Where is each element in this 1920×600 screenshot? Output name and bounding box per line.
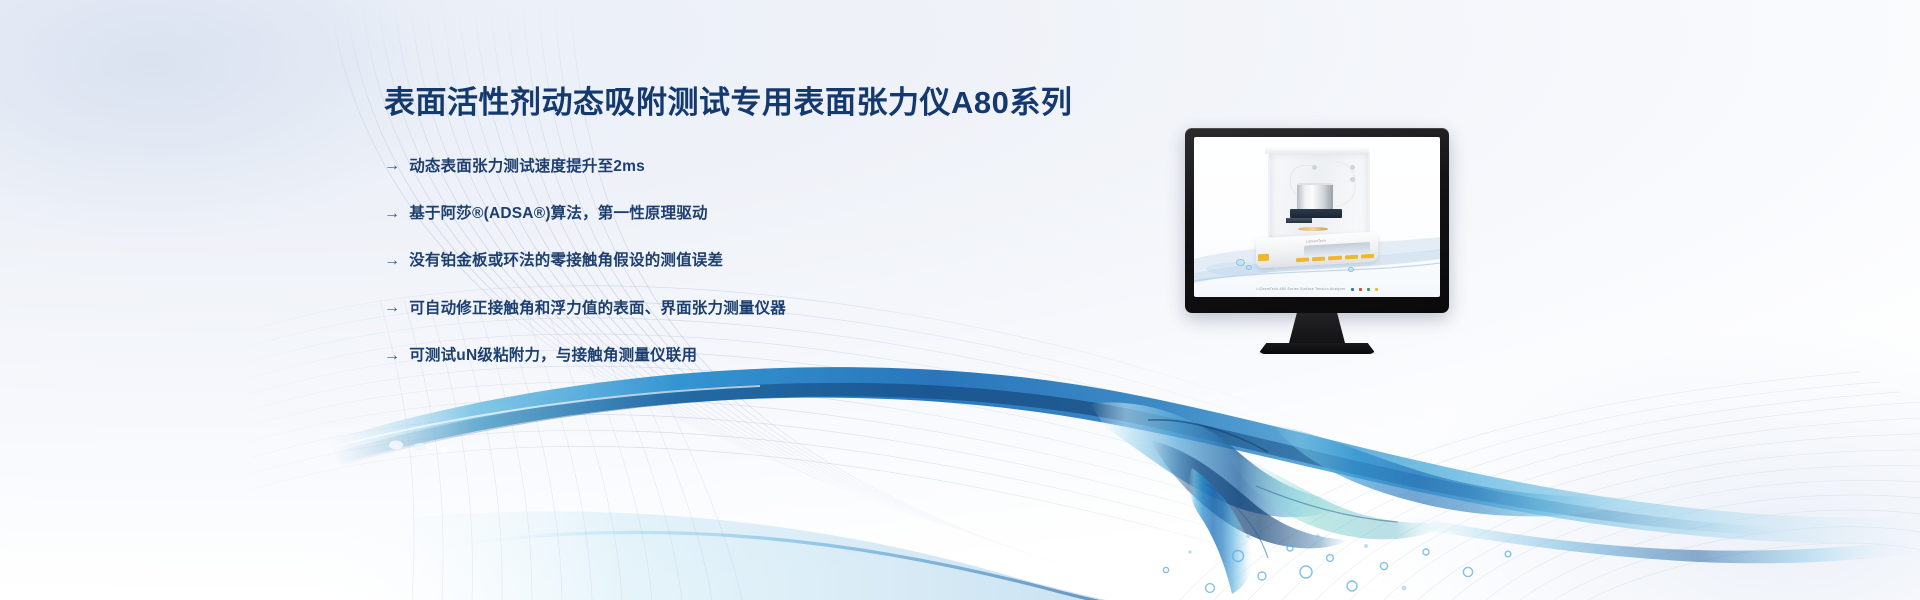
list-item: → 基于阿莎®(ADSA®)算法，第一性原理驱动 xyxy=(384,203,1204,225)
monitor-screen: LiChemTech LiChemTech A80 Series Surface… xyxy=(1194,137,1440,297)
tensiometer-instrument-image: LiChemTech xyxy=(1252,147,1382,273)
monitor-bezel: LiChemTech LiChemTech A80 Series Surface… xyxy=(1185,128,1449,313)
product-banner: 表面活性剂动态吸附测试专用表面张力仪A80系列 → 动态表面张力测试速度提升至2… xyxy=(0,0,1920,600)
instrument-port-knob xyxy=(1350,165,1355,170)
list-item-label: 可测试uN级粘附力，与接触角测量仪联用 xyxy=(409,345,697,367)
instrument-port-knob xyxy=(1350,177,1355,182)
arrow-right-icon: → xyxy=(384,345,400,367)
arrow-right-icon: → xyxy=(384,297,400,319)
instrument-balance-body: LiChemTech xyxy=(1256,232,1378,269)
list-item-label: 动态表面张力测试速度提升至2ms xyxy=(409,156,645,178)
instrument-stage-arm xyxy=(1286,218,1312,223)
lcd-monitor: LiChemTech LiChemTech A80 Series Surface… xyxy=(1185,128,1449,354)
instrument-brand-text: LiChemTech xyxy=(1306,239,1326,244)
list-item-label: 可自动修正接触角和浮力值的表面、界面张力测量仪器 xyxy=(409,298,786,320)
monitor-brand-text: LiChemTech A80 Series Surface Tension An… xyxy=(1256,287,1345,291)
instrument-chamber-lid xyxy=(1265,147,1369,154)
list-item-label: 基于阿莎®(ADSA®)算法，第一性原理驱动 xyxy=(409,203,708,225)
brand-dot-red xyxy=(1359,288,1362,291)
banner-content: 表面活性剂动态吸附测试专用表面张力仪A80系列 → 动态表面张力测试速度提升至2… xyxy=(384,84,1204,392)
list-item-label: 没有铂金板或环法的零接触角假设的测值误差 xyxy=(409,250,723,272)
water-droplet xyxy=(1236,259,1245,266)
water-droplet xyxy=(1348,267,1354,272)
feature-list: → 动态表面张力测试速度提升至2ms → 基于阿莎®(ADSA®)算法，第一性原… xyxy=(384,155,1204,367)
instrument-sample-plate xyxy=(1298,227,1328,231)
instrument-stage xyxy=(1290,209,1342,218)
brand-dot-blue xyxy=(1351,288,1354,291)
page-title: 表面活性剂动态吸附测试专用表面张力仪A80系列 xyxy=(384,84,1204,121)
brand-dot-green xyxy=(1367,288,1370,291)
list-item: → 动态表面张力测试速度提升至2ms xyxy=(384,155,1204,177)
list-item: → 可测试uN级粘附力，与接触角测量仪联用 xyxy=(384,345,1204,367)
brand-dot-yellow xyxy=(1375,288,1378,291)
arrow-right-icon: → xyxy=(384,203,400,225)
instrument-side-button xyxy=(1258,254,1269,262)
list-item: → 没有铂金板或环法的零接触角假设的测值误差 xyxy=(384,250,1204,272)
monitor-brand-strip: LiChemTech A80 Series Surface Tension An… xyxy=(1194,283,1440,295)
monitor-stand-neck xyxy=(1289,313,1345,343)
monitor-stand-base xyxy=(1258,343,1376,354)
instrument-port-knob xyxy=(1312,165,1317,170)
arrow-right-icon: → xyxy=(384,155,400,177)
water-droplet xyxy=(1246,265,1252,270)
list-item: → 可自动修正接触角和浮力值的表面、界面张力测量仪器 xyxy=(384,297,1204,319)
arrow-right-icon: → xyxy=(384,250,400,272)
